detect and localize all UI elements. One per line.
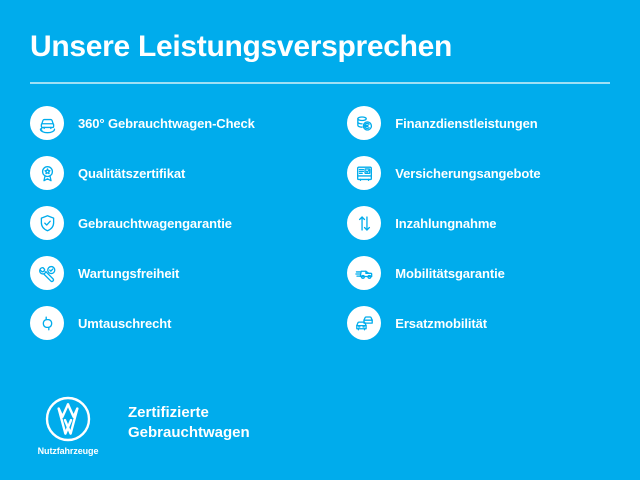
benefits-column-right: Finanzdienstleistungen Versicherungsange… xyxy=(319,106,610,340)
benefit-item-mobility-guarantee[interactable]: Mobilitätsgarantie xyxy=(347,256,610,290)
benefit-item-trade-in[interactable]: Inzahlungnahme xyxy=(347,206,610,240)
benefit-item-replacement-mobility[interactable]: Ersatzmobilität xyxy=(347,306,610,340)
footer: Nutzfahrzeuge Zertifizierte Gebrauchtwag… xyxy=(30,395,250,456)
footer-claim-line1: Zertifizierte xyxy=(128,403,250,423)
benefit-label: 360° Gebrauchtwagen-Check xyxy=(78,116,255,131)
benefit-item-quality-certificate[interactable]: Qualitätszertifikat xyxy=(30,156,319,190)
benefit-label: Ersatzmobilität xyxy=(395,316,487,331)
wrench-check-icon xyxy=(30,256,64,290)
benefit-item-360-check[interactable]: 360° Gebrauchtwagen-Check xyxy=(30,106,319,140)
footer-claim-line2: Gebrauchtwagen xyxy=(128,423,250,443)
benefit-item-return-right[interactable]: Umtauschrecht xyxy=(30,306,319,340)
benefit-label: Qualitätszertifikat xyxy=(78,166,185,181)
footer-claim: Zertifizierte Gebrauchtwagen xyxy=(128,403,250,444)
benefit-item-warranty[interactable]: Gebrauchtwagengarantie xyxy=(30,206,319,240)
header-divider xyxy=(30,82,610,84)
brand-block: Nutzfahrzeuge xyxy=(30,395,106,456)
benefit-label: Mobilitätsgarantie xyxy=(395,266,504,281)
brand-subtitle: Nutzfahrzeuge xyxy=(38,446,99,456)
two-cars-icon xyxy=(347,306,381,340)
page-title: Unsere Leistungsversprechen xyxy=(30,30,610,63)
benefit-label: Versicherungsangebote xyxy=(395,166,540,181)
shield-check-icon xyxy=(30,206,64,240)
car-360-check-icon xyxy=(30,106,64,140)
vw-roundel-logo xyxy=(44,395,92,443)
van-motion-icon xyxy=(347,256,381,290)
benefit-label: Finanzdienstleistungen xyxy=(395,116,537,131)
benefit-label: Umtauschrecht xyxy=(78,316,171,331)
header: Unsere Leistungsversprechen xyxy=(0,0,640,84)
benefit-label: Inzahlungnahme xyxy=(395,216,496,231)
benefit-item-maintenance-free[interactable]: Wartungsfreiheit xyxy=(30,256,319,290)
coins-euro-icon xyxy=(347,106,381,140)
benefit-item-insurance[interactable]: Versicherungsangebote xyxy=(347,156,610,190)
benefits-section: 360° Gebrauchtwagen-Check Qualitätszerti… xyxy=(0,106,640,340)
exchange-arrows-icon xyxy=(30,306,64,340)
insurance-document-car-icon xyxy=(347,156,381,190)
up-down-arrows-icon xyxy=(347,206,381,240)
benefits-column-left: 360° Gebrauchtwagen-Check Qualitätszerti… xyxy=(30,106,319,340)
award-rosette-icon xyxy=(30,156,64,190)
benefit-label: Gebrauchtwagengarantie xyxy=(78,216,232,231)
benefit-item-financial-services[interactable]: Finanzdienstleistungen xyxy=(347,106,610,140)
benefit-label: Wartungsfreiheit xyxy=(78,266,179,281)
